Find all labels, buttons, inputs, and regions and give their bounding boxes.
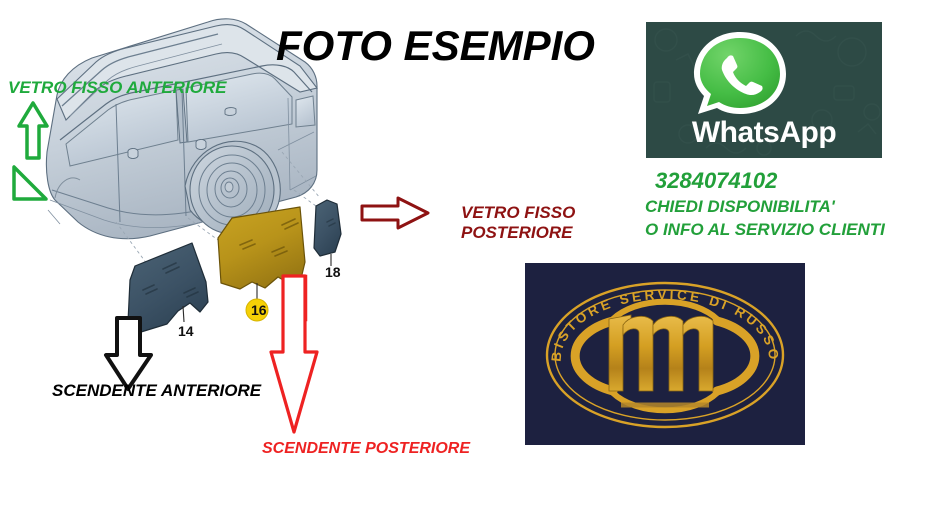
contact-line-2: O INFO AL SERVIZIO CLIENTI xyxy=(645,220,945,240)
whatsapp-banner: WhatsApp xyxy=(646,22,882,158)
triangle-green-icon xyxy=(14,167,46,199)
right-arrow-darkred-icon xyxy=(362,198,428,228)
label-scendente-anteriore: SCENDENTE ANTERIORE xyxy=(52,381,261,401)
down-arrow-black-icon xyxy=(106,318,151,389)
down-arrow-red-icon xyxy=(271,276,317,432)
shop-logo: MRICAMBISTORE SERVICE DI RUSSO MARCO xyxy=(525,263,805,445)
contact-line-1: CHIEDI DISPONIBILITA' xyxy=(645,197,945,217)
label-scendente-posteriore: SCENDENTE POSTERIORE xyxy=(262,440,470,458)
label-vetro-fisso-posteriore-line1: VETRO FISSO xyxy=(461,203,591,223)
contact-phone-number: 3284074102 xyxy=(655,168,945,194)
page-title: FOTO ESEMPIO xyxy=(276,22,595,70)
whatsapp-wordmark: WhatsApp xyxy=(646,116,882,150)
label-vetro-fisso-posteriore: VETRO FISSO POSTERIORE xyxy=(461,203,591,242)
shop-logo-graphic: MRICAMBISTORE SERVICE DI RUSSO MARCO xyxy=(525,263,805,445)
label-vetro-fisso-posteriore-line2: POSTERIORE xyxy=(461,223,591,243)
label-vetro-fisso-anteriore: VETRO FISSO ANTERIORE xyxy=(8,78,227,98)
shop-logo-monogram xyxy=(609,315,713,391)
promo-image-canvas: 14 16 17 18 FOTO ESEMPIO VETRO FISSO ANT… xyxy=(0,0,951,510)
up-arrow-green-icon xyxy=(19,103,47,158)
contact-block: 3284074102 CHIEDI DISPONIBILITA' O INFO … xyxy=(645,168,945,240)
whatsapp-phone-icon xyxy=(686,28,794,118)
